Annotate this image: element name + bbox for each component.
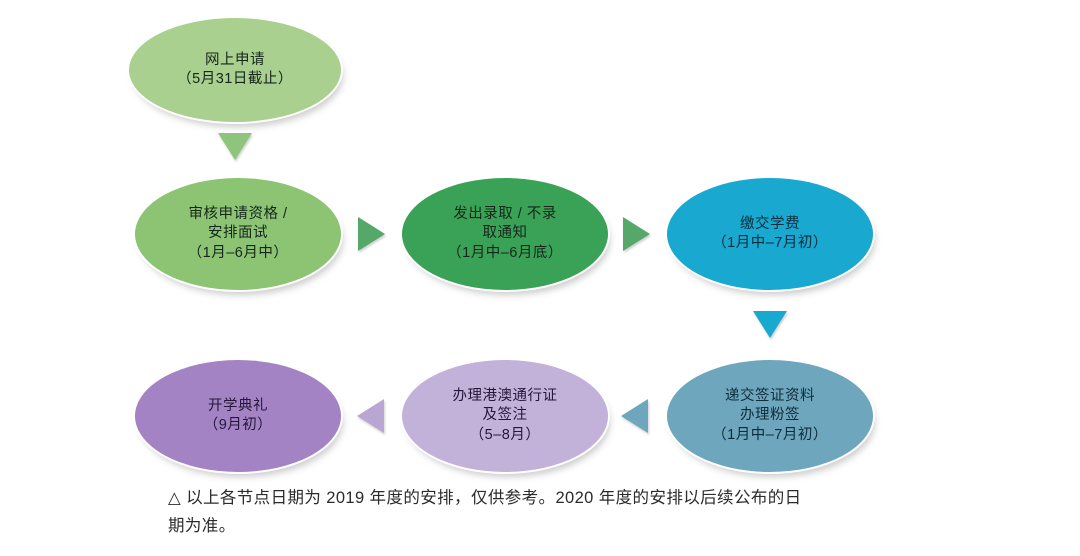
arrow-right-icon-notice-to-tuition bbox=[623, 217, 650, 251]
node-line: （5月31日截止） bbox=[177, 70, 293, 89]
node-line: 递交签证资料 bbox=[725, 387, 815, 406]
arrow-left-icon-permit-to-ceremony bbox=[357, 399, 384, 433]
node-line: （5–8月） bbox=[470, 426, 541, 445]
footnote: △ 以上各节点日期为 2019 年度的安排，仅供参考。2020 年度的安排以后续… bbox=[168, 484, 898, 541]
node-line: 安排面试 bbox=[208, 224, 268, 243]
arrow-right-icon-review-to-notice bbox=[358, 217, 385, 251]
node-line: 办理粉签 bbox=[740, 406, 800, 425]
node-line: 及签注 bbox=[483, 406, 528, 425]
node-line: 审核申请资格 / bbox=[188, 205, 287, 224]
arrow-down-icon-tuition-to-visa bbox=[753, 311, 787, 338]
node-admission-notice[interactable]: 发出录取 / 不录 取通知 （1月中–6月底） bbox=[400, 176, 610, 292]
node-submit-visa-materials[interactable]: 递交签证资料 办理粉签 （1月中–7月初） bbox=[665, 358, 875, 474]
node-line: （1月中–7月初） bbox=[712, 234, 828, 253]
arrow-down-icon-application-to-review bbox=[218, 133, 252, 160]
node-opening-ceremony[interactable]: 开学典礼 （9月初） bbox=[133, 358, 343, 474]
node-line: 开学典礼 bbox=[208, 397, 268, 416]
node-online-application[interactable]: 网上申请 （5月31日截止） bbox=[127, 16, 343, 124]
node-line: （1月中–6月底） bbox=[447, 244, 563, 263]
node-line: （1月–6月中） bbox=[188, 244, 289, 263]
node-pay-tuition[interactable]: 缴交学费 （1月中–7月初） bbox=[665, 176, 875, 292]
footnote-line-2: 期为准。 bbox=[168, 517, 236, 535]
node-review-and-interview[interactable]: 审核申请资格 / 安排面试 （1月–6月中） bbox=[133, 176, 343, 292]
arrow-left-icon-visa-to-permit bbox=[621, 399, 648, 433]
node-line: 取通知 bbox=[483, 224, 528, 243]
node-line: 缴交学费 bbox=[740, 215, 800, 234]
footnote-line-1: 以上各节点日期为 2019 年度的安排，仅供参考。2020 年度的安排以后续公布… bbox=[186, 489, 801, 507]
footnote-marker: △ bbox=[168, 489, 181, 507]
node-hk-macau-permit[interactable]: 办理港澳通行证 及签注 （5–8月） bbox=[400, 358, 610, 474]
node-line: （1月中–7月初） bbox=[712, 426, 828, 445]
flowchart-canvas: 网上申请 （5月31日截止） 审核申请资格 / 安排面试 （1月–6月中） 发出… bbox=[0, 0, 1080, 556]
node-line: 网上申请 bbox=[205, 51, 265, 70]
node-line: （9月初） bbox=[204, 416, 273, 435]
node-line: 办理港澳通行证 bbox=[453, 387, 558, 406]
node-line: 发出录取 / 不录 bbox=[453, 205, 557, 224]
